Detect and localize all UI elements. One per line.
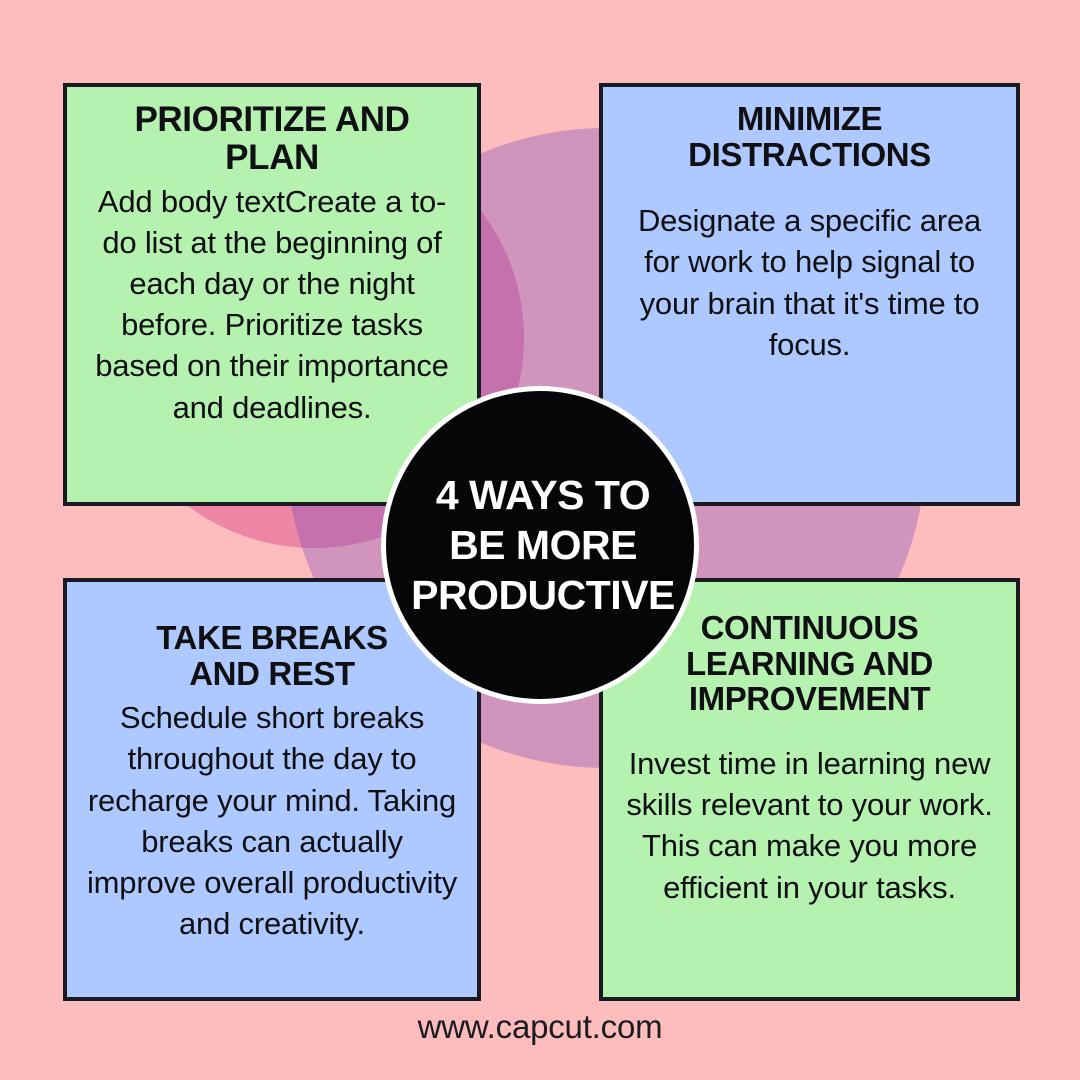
infographic-poster: PRIORITIZE AND PLAN Add body textCreate … xyxy=(0,0,1080,1080)
center-badge: 4 WAYS TO BE MORE PRODUCTIVE xyxy=(381,386,699,704)
center-badge-title: 4 WAYS TO BE MORE PRODUCTIVE xyxy=(392,470,694,620)
footer-url: www.capcut.com xyxy=(0,1008,1080,1046)
card-title: MINIMIZE DISTRACTIONS xyxy=(688,101,931,172)
card-body: Invest time in learning new skills relev… xyxy=(619,743,1000,908)
card-title: CONTINUOUS LEARNING AND IMPROVEMENT xyxy=(686,610,933,717)
card-body: Schedule short breaks throughout the day… xyxy=(83,697,461,944)
card-body: Designate a specific area for work to he… xyxy=(619,200,1000,365)
card-body: Add body textCreate a to-do list at the … xyxy=(83,181,461,428)
card-title: PRIORITIZE AND PLAN xyxy=(83,101,461,177)
card-title: TAKE BREAKS AND REST xyxy=(156,620,388,691)
